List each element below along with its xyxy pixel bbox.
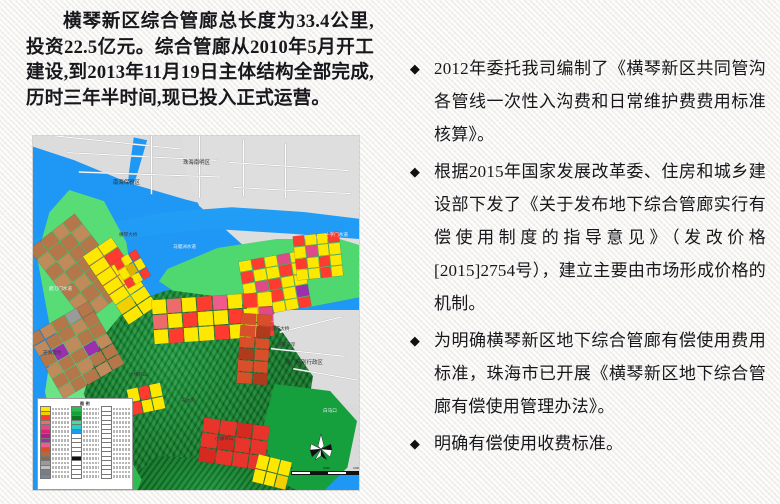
map-parcel bbox=[240, 325, 255, 337]
map-parcel bbox=[167, 298, 182, 313]
map-parcel bbox=[329, 243, 341, 254]
map-parcel bbox=[183, 312, 198, 327]
map-parcel bbox=[252, 373, 267, 385]
map-label: 南海保税区 bbox=[113, 178, 140, 186]
map-legend-label bbox=[113, 435, 130, 438]
map-parcel bbox=[256, 314, 271, 326]
map-legend-label bbox=[83, 421, 100, 424]
map-parcel bbox=[293, 235, 305, 246]
map-label: 莲花大桥 bbox=[271, 326, 289, 332]
map-legend-label bbox=[52, 435, 69, 438]
map-legend-label bbox=[52, 453, 69, 456]
map-legend-label bbox=[52, 448, 69, 451]
bullet-text: 明确有偿使用收费标准。 bbox=[434, 434, 623, 453]
intro-paragraph: 横琴新区综合管廊总长度为33.4公里,投资22.5亿元。综合管廊从2010年5月… bbox=[26, 10, 374, 112]
map-parcel bbox=[320, 267, 332, 278]
map-legend-label bbox=[113, 475, 130, 478]
map-parcel-cluster bbox=[237, 313, 272, 385]
map-legend-label bbox=[83, 453, 100, 456]
map-parcel bbox=[306, 245, 318, 256]
map-parcel bbox=[168, 313, 183, 328]
map-legend-label bbox=[113, 439, 130, 442]
map-legend-label bbox=[52, 426, 69, 429]
map-legend-label bbox=[52, 430, 69, 433]
map-parcel bbox=[169, 328, 184, 343]
map-parcel bbox=[231, 452, 249, 468]
map-legend-entry bbox=[71, 475, 100, 479]
map-label: 白马口 bbox=[323, 408, 337, 414]
map-legend-label bbox=[113, 471, 130, 474]
bullet-text: 根据2015年国家发展改革委、住房和城乡建设部下发了《关于发布地下综合管廊实行有… bbox=[434, 162, 766, 313]
map-legend-label bbox=[83, 448, 100, 451]
compass-rose-icon bbox=[307, 432, 335, 462]
map-legend-column bbox=[101, 407, 130, 488]
bullet-diamond-icon: ◆ bbox=[408, 52, 422, 85]
map-legend-label bbox=[113, 444, 130, 447]
map-legend-label bbox=[113, 430, 130, 433]
map-label: 马骝洲水道 bbox=[173, 244, 196, 250]
map-parcel bbox=[152, 299, 167, 314]
map-legend-columns bbox=[40, 407, 130, 488]
map-legend-label bbox=[52, 408, 69, 411]
map-parcel bbox=[184, 327, 199, 342]
map-label: 小横琴山 bbox=[215, 436, 233, 442]
map-parcel bbox=[215, 450, 233, 466]
map-legend-label bbox=[113, 412, 130, 415]
map-parcel bbox=[298, 296, 312, 308]
map-parcel bbox=[198, 311, 213, 326]
map-label: 磨刀门水道 bbox=[49, 286, 72, 292]
map-legend-label bbox=[52, 466, 69, 469]
bullet-diamond-icon: ◆ bbox=[408, 324, 422, 357]
scale-bar-body bbox=[291, 471, 359, 475]
map-scale-bar: 0 500m 1000m bbox=[291, 466, 359, 478]
map-parcel bbox=[152, 396, 165, 410]
map-legend-label bbox=[113, 448, 130, 451]
map-legend-label bbox=[52, 439, 69, 442]
scale-label-0: 0 bbox=[291, 466, 293, 470]
bullet-diamond-icon: ◆ bbox=[408, 427, 422, 460]
bullet-diamond-icon: ◆ bbox=[408, 155, 422, 188]
map-legend-label bbox=[52, 462, 69, 465]
bullet-text: 2012年委托我司编制了《横琴新区共同管沟各管线一次性入沟费和日常维护费费用标准… bbox=[434, 59, 766, 144]
bullet-text: 为明确横琴新区地下综合管廊有偿使用费用标准，珠海市已开展《横琴新区地下综合管廊有… bbox=[434, 331, 766, 416]
map-road bbox=[199, 136, 200, 198]
map-parcel bbox=[234, 437, 252, 453]
map-parcel bbox=[252, 425, 270, 441]
map-legend-label bbox=[83, 462, 100, 465]
map-parcel bbox=[213, 310, 228, 325]
map-legend-label bbox=[113, 426, 130, 429]
map-parcel bbox=[250, 439, 268, 455]
map-parcel bbox=[199, 326, 214, 341]
map-parcel bbox=[237, 372, 252, 384]
map-legend-label bbox=[83, 475, 100, 478]
map-legend-column bbox=[40, 407, 69, 488]
map-parcel bbox=[227, 294, 242, 309]
map-legend-label bbox=[113, 466, 130, 469]
map-parcel bbox=[330, 254, 342, 265]
map-parcel bbox=[197, 296, 212, 311]
map-label: 芒洲湿地 bbox=[43, 350, 61, 356]
scale-label-mid: 500m bbox=[323, 466, 330, 470]
map-parcel bbox=[198, 447, 216, 463]
map-parcel bbox=[214, 325, 229, 340]
map-parcel bbox=[294, 247, 306, 258]
map-legend-label bbox=[83, 408, 100, 411]
map-parcel bbox=[255, 338, 270, 350]
map-parcel bbox=[182, 297, 197, 312]
map-legend-label bbox=[113, 408, 130, 411]
map-parcel bbox=[317, 244, 329, 255]
map-parcel bbox=[202, 418, 220, 434]
map-legend-label bbox=[83, 444, 100, 447]
map-parcel bbox=[307, 257, 319, 268]
map-legend-swatch bbox=[71, 474, 82, 479]
map-legend-entry bbox=[101, 475, 130, 479]
map-label: 天沐河 bbox=[181, 398, 195, 404]
map-parcel bbox=[285, 298, 299, 310]
map-parcel bbox=[236, 422, 254, 438]
map-legend-title: 图 例 bbox=[40, 401, 130, 406]
map-parcel bbox=[319, 255, 331, 266]
map-label: 横琴大桥 bbox=[119, 232, 137, 238]
map-legend-label bbox=[83, 466, 100, 469]
map-legend-label bbox=[113, 453, 130, 456]
map-parcel bbox=[242, 293, 257, 308]
bullet-item: ◆明确有偿使用收费标准。 bbox=[404, 427, 766, 460]
map-legend-label bbox=[113, 417, 130, 420]
map-parcel bbox=[239, 337, 254, 349]
map-parcel bbox=[272, 300, 286, 312]
map-legend-label bbox=[83, 417, 100, 420]
map-legend-label bbox=[83, 439, 100, 442]
map-parcel bbox=[305, 234, 317, 245]
map-label: 珠海南明区 bbox=[183, 158, 210, 166]
map-legend-label bbox=[52, 457, 69, 460]
slide-canvas: 横琴新区综合管廊总长度为33.4公里,投资22.5亿元。综合管廊从2010年5月… bbox=[0, 0, 780, 504]
hengqin-planning-map[interactable]: 珠海南明区南海保税区澳门特别行政区莲花大桥横琴大桥马骝洲水道磨刀门水道十字门水道… bbox=[33, 136, 359, 490]
map-legend-label bbox=[83, 430, 100, 433]
bullet-item: ◆为明确横琴新区地下综合管廊有偿使用费用标准，珠海市已开展《横琴新区地下综合管廊… bbox=[404, 324, 766, 423]
map-legend-label bbox=[83, 426, 100, 429]
scale-label-max: 1000m bbox=[353, 466, 359, 470]
map-legend-label bbox=[52, 421, 69, 424]
bullet-list: ◆2012年委托我司编制了《横琴新区共同管沟各管线一次性入沟费和日常维护费费用标… bbox=[404, 52, 766, 464]
map-parcel bbox=[295, 258, 307, 269]
map-parcel bbox=[308, 268, 320, 279]
map-legend-column bbox=[71, 407, 100, 488]
map-parcel bbox=[149, 383, 162, 397]
map-legend-swatch bbox=[101, 474, 112, 479]
map-parcel bbox=[153, 314, 168, 329]
map-legend-label bbox=[83, 457, 100, 460]
bullet-item: ◆根据2015年国家发展改革委、住房和城乡建设部下发了《关于发布地下综合管廊实行… bbox=[404, 155, 766, 320]
bullet-item: ◆2012年委托我司编制了《横琴新区共同管沟各管线一次性入沟费和日常维护费费用标… bbox=[404, 52, 766, 151]
map-label: 横琴口岸 bbox=[277, 342, 295, 348]
map-parcel bbox=[154, 329, 169, 344]
map-legend-swatch bbox=[40, 474, 51, 479]
map-label: 大横琴山 bbox=[129, 372, 147, 378]
map-label: 十字门水道 bbox=[325, 232, 348, 238]
map-legend-label bbox=[113, 462, 130, 465]
map-parcel bbox=[212, 295, 227, 310]
map-legend-label bbox=[83, 435, 100, 438]
map-parcel-cluster bbox=[293, 232, 343, 281]
map-legend-label bbox=[83, 471, 100, 474]
map-parcel bbox=[241, 313, 256, 325]
map-road bbox=[151, 136, 152, 194]
map-legend-label bbox=[52, 417, 69, 420]
map-parcel bbox=[255, 326, 270, 338]
map-legend-label bbox=[83, 412, 100, 415]
map-legend-label bbox=[113, 421, 130, 424]
map-label: 澳门特别行政区 bbox=[285, 358, 323, 366]
map-parcel bbox=[237, 360, 252, 372]
map-legend-label bbox=[52, 475, 69, 478]
map-legend-entry bbox=[40, 475, 69, 479]
map-legend-label bbox=[52, 471, 69, 474]
map-parcel bbox=[238, 348, 253, 360]
map-legend-label bbox=[52, 412, 69, 415]
map-parcel bbox=[257, 292, 272, 307]
map-parcel bbox=[254, 350, 269, 362]
map-legend-label bbox=[52, 444, 69, 447]
map-parcel bbox=[219, 420, 237, 436]
map-legend: 图 例 bbox=[37, 398, 133, 490]
map-legend-label bbox=[113, 457, 130, 460]
map-parcel bbox=[253, 361, 268, 373]
map-parcel bbox=[296, 269, 308, 280]
map-parcel bbox=[331, 265, 343, 276]
